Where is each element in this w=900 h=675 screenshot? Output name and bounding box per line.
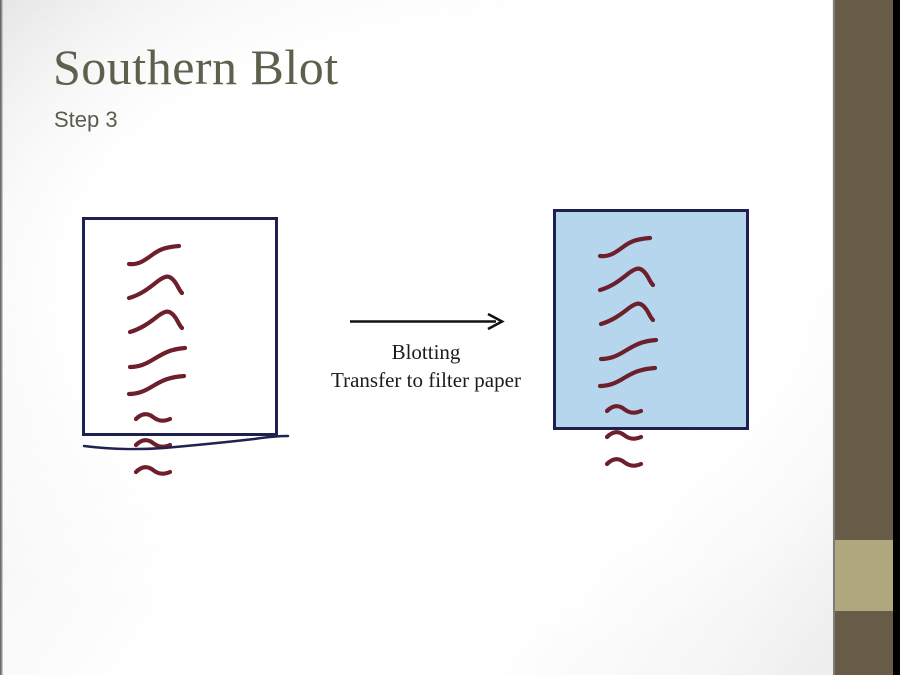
sidebar-accent-block	[835, 540, 893, 611]
sidebar-right-edge	[893, 0, 900, 675]
transfer-arrow-icon	[348, 310, 510, 334]
page-subtitle: Step 3	[54, 106, 118, 134]
caption-line-1: Blotting	[300, 338, 552, 366]
arrow-caption: Blotting Transfer to filter paper	[300, 338, 552, 394]
caption-line-2: Transfer to filter paper	[300, 366, 552, 394]
gel-support-line	[78, 428, 296, 452]
page-title: Southern Blot	[53, 38, 339, 96]
slide-left-edge	[0, 0, 3, 675]
gel-dna-bands	[82, 217, 278, 436]
filter-paper-dna-bands	[553, 209, 749, 430]
slide-canvas: Southern Blot Step 3 Blotting Transfer t…	[0, 0, 900, 675]
